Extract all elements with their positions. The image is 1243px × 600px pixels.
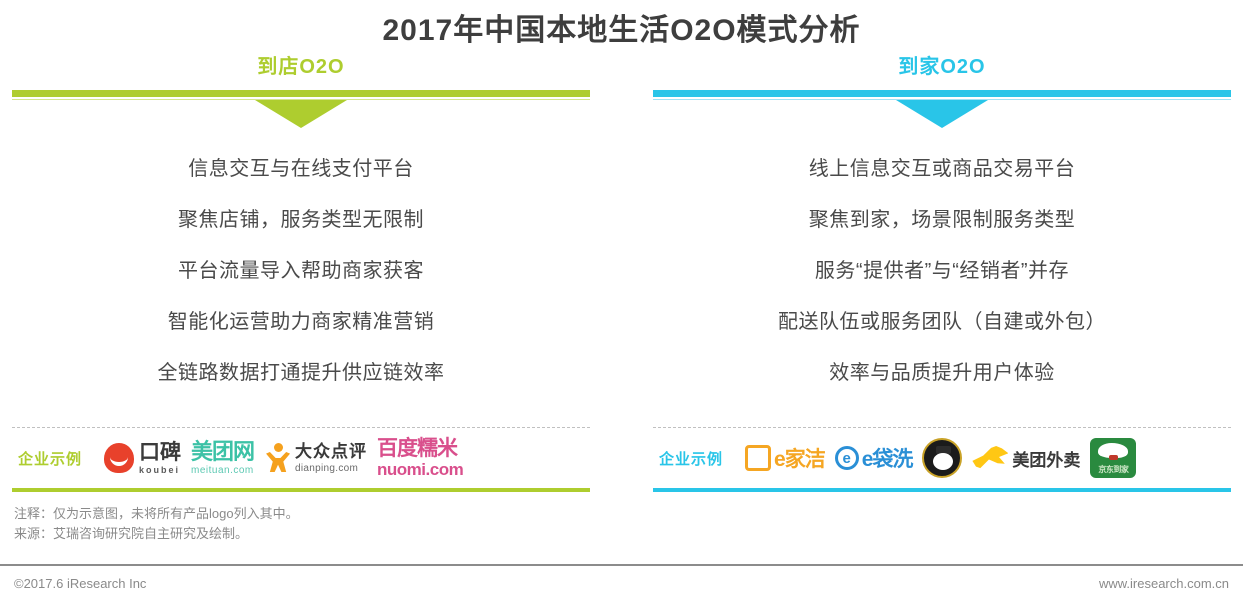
logo-text-cn: 美团外卖 <box>1012 446 1080 471</box>
bear-badge-icon <box>922 438 962 478</box>
logo-text-cn: e家洁 <box>774 443 825 473</box>
column-in-store-o2o: 到店O2O 信息交互与在线支付平台 聚焦店铺，服务类型无限制 平台流量导入帮助商… <box>12 52 590 492</box>
bullet-item: 聚焦店铺，服务类型无限制 <box>12 195 590 246</box>
bullet-item: 信息交互与在线支付平台 <box>12 144 590 195</box>
bullet-list-right: 线上信息交互或商品交易平台 聚焦到家，场景限制服务类型 服务“提供者”与“经销者… <box>653 122 1231 423</box>
copyright-text: ©2017.6 iResearch Inc <box>14 576 146 591</box>
bullet-item: 配送队伍或服务团队（自建或外包） <box>653 297 1231 348</box>
dog-shape <box>1098 443 1128 458</box>
notes-block: 注释：仅为示意图，未将所有产品logo列入其中。 来源：艾瑞咨询研究院自主研究及… <box>0 492 1243 544</box>
logo-ejiajie[interactable]: e家洁 <box>745 443 825 473</box>
columns-container: 到店O2O 信息交互与在线支付平台 聚焦店铺，服务类型无限制 平台流量导入帮助商… <box>0 52 1243 492</box>
dianping-person-icon <box>264 443 292 473</box>
examples-strip-right: 企业示例 e家洁 e e袋洗 <box>653 428 1231 488</box>
header-rule-left <box>12 90 590 122</box>
page-title: 2017年中国本地生活O2O模式分析 <box>0 0 1243 52</box>
kangaroo-icon <box>972 446 1008 470</box>
logo-aixianfeng[interactable] <box>922 438 962 478</box>
bottom-rule-right <box>653 488 1231 492</box>
logo-text-en: koubei <box>139 466 181 475</box>
examples-strip-left: 企业示例 口碑 koubei 美团网 meituan.com <box>12 428 590 488</box>
logo-jingdong-daojia[interactable]: 京东到家 <box>1090 438 1136 478</box>
column-heading-left: 到店O2O <box>12 52 590 90</box>
examples-label-right: 企业示例 <box>659 448 723 469</box>
note-line-1: 注释：仅为示意图，未将所有产品logo列入其中。 <box>14 504 1229 524</box>
bullet-item: 服务“提供者”与“经销者”并存 <box>653 246 1231 297</box>
dog-badge-icon: 京东到家 <box>1090 438 1136 478</box>
examples-label-left: 企业示例 <box>18 448 82 469</box>
header-rule-right <box>653 90 1231 122</box>
logo-text-cn: e袋洗 <box>862 443 913 473</box>
logo-nuomi[interactable]: 百度糯米 nuomi.com <box>377 438 463 478</box>
logo-dianping[interactable]: 大众点评 dianping.com <box>264 443 367 474</box>
logo-meituan[interactable]: 美团网 meituan.com <box>191 441 254 476</box>
logo-text-cn: 美团网 <box>191 441 254 463</box>
note-line-2: 来源：艾瑞咨询研究院自主研究及绘制。 <box>14 524 1229 544</box>
slide-root: 2017年中国本地生活O2O模式分析 到店O2O 信息交互与在线支付平台 聚焦店… <box>0 0 1243 600</box>
down-arrow-icon-right <box>896 100 988 128</box>
rule-bar-right <box>653 90 1231 97</box>
bullet-list-left: 信息交互与在线支付平台 聚焦店铺，服务类型无限制 平台流量导入帮助商家获客 智能… <box>12 122 590 423</box>
logo-list-right: e家洁 e e袋洗 美团外卖 <box>745 438 1225 478</box>
logo-meituan-waimai[interactable]: 美团外卖 <box>972 446 1080 471</box>
rule-bar-left <box>12 90 590 97</box>
bullet-item: 线上信息交互或商品交易平台 <box>653 144 1231 195</box>
logo-list-left: 口碑 koubei 美团网 meituan.com 大众点评 <box>104 438 584 478</box>
logo-text-en: dianping.com <box>295 464 367 474</box>
logo-text-cn: 百度糯米 <box>377 438 463 459</box>
bullet-item: 平台流量导入帮助商家获客 <box>12 246 590 297</box>
bullet-item: 聚焦到家，场景限制服务类型 <box>653 195 1231 246</box>
logo-edaixi[interactable]: e e袋洗 <box>835 443 913 473</box>
bullet-item: 全链路数据打通提升供应链效率 <box>12 348 590 399</box>
footer-bar: ©2017.6 iResearch Inc www.iresearch.com.… <box>0 564 1243 600</box>
bullet-item: 效率与品质提升用户体验 <box>653 348 1231 399</box>
logo-text-cn: 京东到家 <box>1090 464 1136 475</box>
down-arrow-icon-left <box>255 100 347 128</box>
logo-text-en: nuomi.com <box>377 461 463 478</box>
bottom-rule-left <box>12 488 590 492</box>
house-icon <box>745 445 771 471</box>
logo-text-en: meituan.com <box>191 466 254 476</box>
column-to-home-o2o: 到家O2O 线上信息交互或商品交易平台 聚焦到家，场景限制服务类型 服务“提供者… <box>653 52 1231 492</box>
e-circle-icon: e <box>835 446 859 470</box>
website-url: www.iresearch.com.cn <box>1099 576 1229 591</box>
logo-text-cn: 口碑 <box>139 442 181 463</box>
logo-koubei[interactable]: 口碑 koubei <box>104 442 181 475</box>
bullet-item: 智能化运营助力商家精准营销 <box>12 297 590 348</box>
face-shape <box>933 453 953 470</box>
logo-text-cn: 大众点评 <box>295 443 367 460</box>
column-heading-right: 到家O2O <box>653 52 1231 90</box>
koubei-smile-icon <box>104 443 134 473</box>
